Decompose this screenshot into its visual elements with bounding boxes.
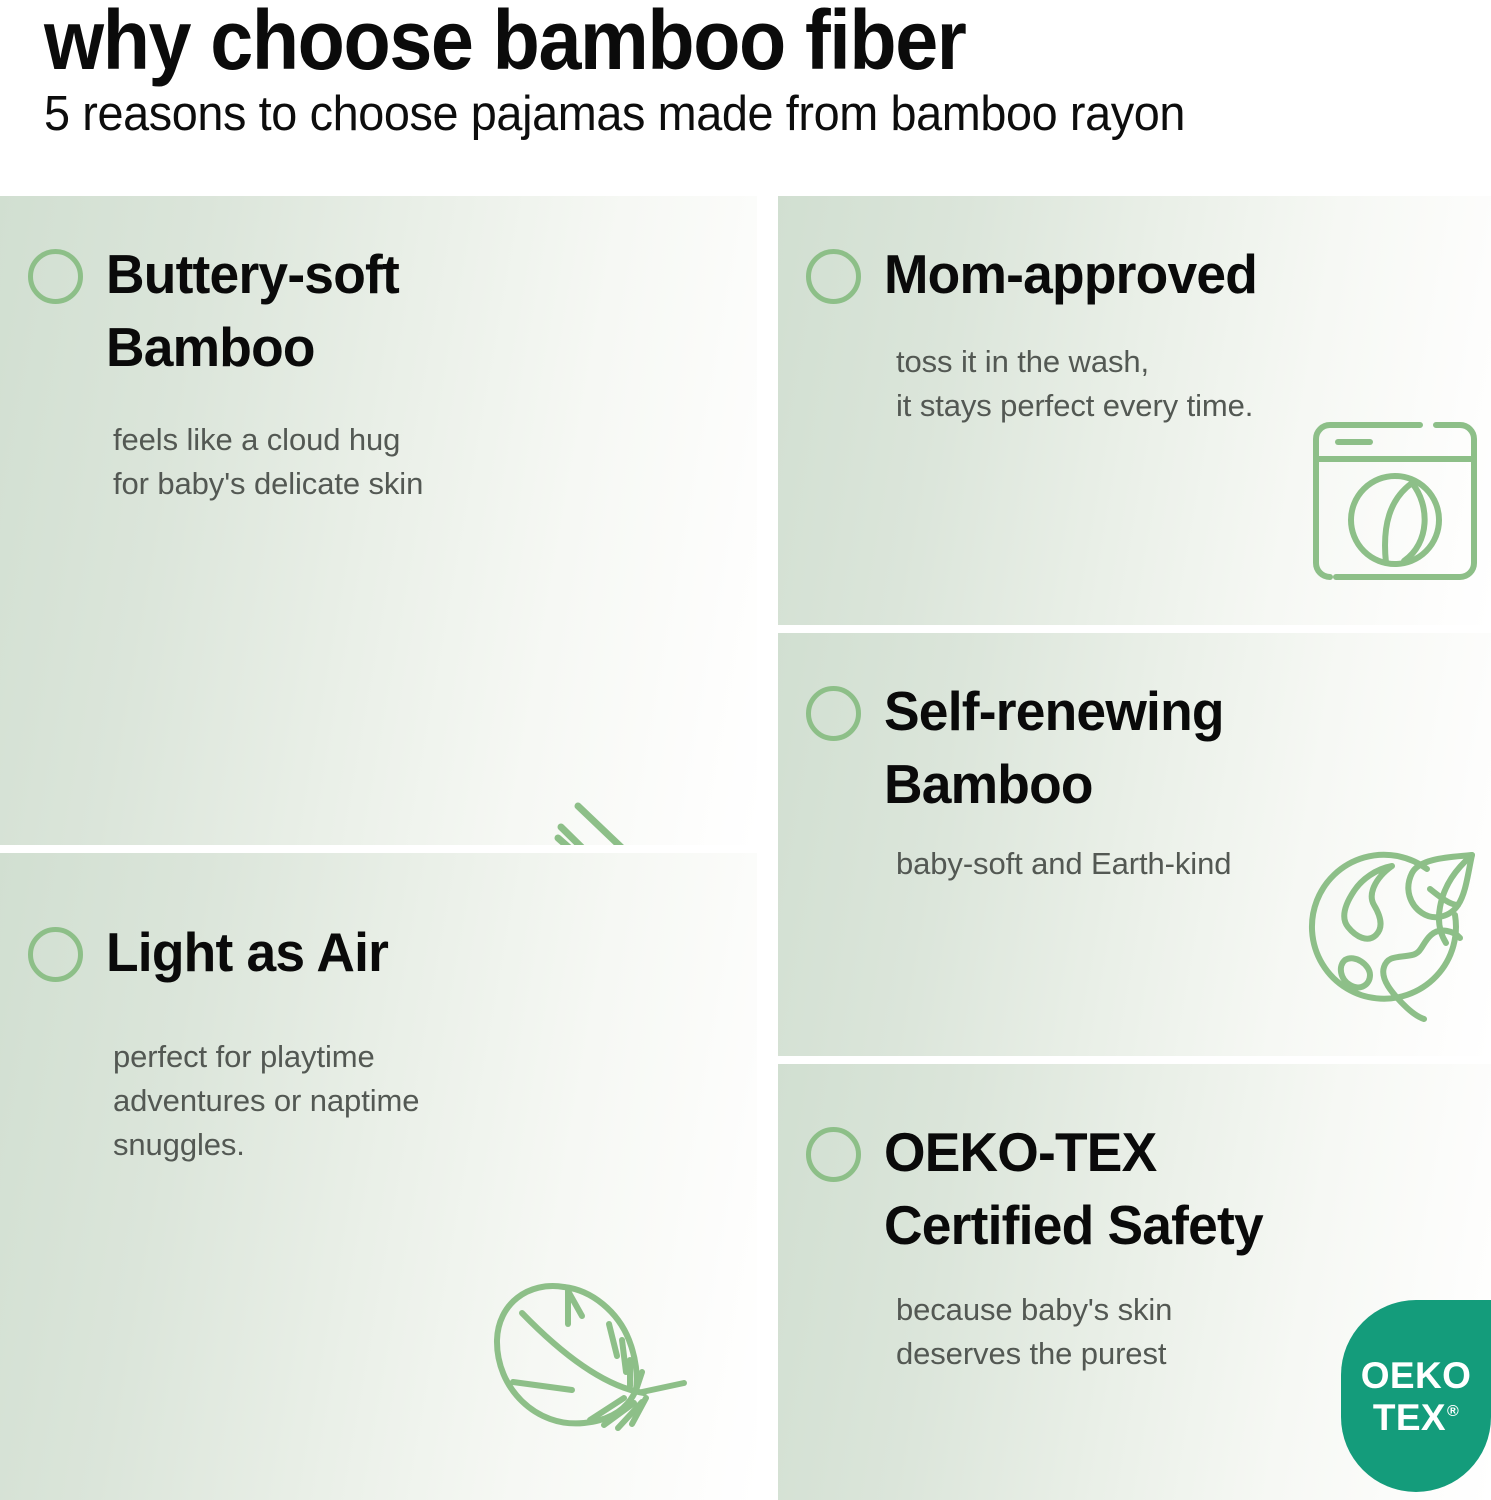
card-mom-approved: Mom-approved toss it in the wash, it sta… [778, 196, 1491, 625]
circle-bullet-icon [28, 249, 83, 304]
infographic-page: why choose bamboo fiber 5 reasons to cho… [0, 0, 1491, 1500]
card-description: feels like a cloud hug for baby's delica… [113, 418, 423, 506]
card-self-renewing-bamboo: Self-renewing Bamboo baby-soft and Earth… [778, 633, 1491, 1056]
card-heading-row: Buttery-soft Bamboo [28, 238, 408, 383]
card-title: Self-renewing Bamboo [884, 675, 1224, 820]
header: why choose bamboo fiber 5 reasons to cho… [0, 0, 1491, 196]
card-light-as-air: Light as Air perfect for playtime advent… [0, 853, 757, 1500]
card-heading-row: Self-renewing Bamboo [806, 675, 1234, 820]
oeko-tex-badge-line1: OEKO [1361, 1357, 1472, 1394]
card-description: baby-soft and Earth-kind [896, 842, 1231, 886]
card-heading-row: Light as Air [28, 916, 397, 989]
card-heading-row: Mom-approved [806, 238, 1269, 311]
hand-touch-icon [494, 796, 714, 845]
oeko-tex-badge-line2: TEX® [1373, 1399, 1459, 1436]
page-subtitle: 5 reasons to choose pajamas made from ba… [44, 88, 1185, 142]
card-title: Mom-approved [884, 238, 1257, 311]
circle-bullet-icon [806, 1127, 861, 1182]
card-title: OEKO-TEX Certified Safety [884, 1116, 1263, 1261]
registered-trademark-icon: ® [1447, 1403, 1459, 1420]
page-title: why choose bamboo fiber [44, 0, 966, 84]
circle-bullet-icon [806, 249, 861, 304]
card-title: Buttery-soft Bamboo [106, 238, 399, 383]
card-title: Light as Air [106, 916, 388, 989]
circle-bullet-icon [806, 686, 861, 741]
circle-bullet-icon [28, 927, 83, 982]
card-buttery-soft-bamboo: Buttery-soft Bamboo feels like a cloud h… [0, 196, 757, 845]
card-description: because baby's skin deserves the purest [896, 1288, 1172, 1376]
card-description: perfect for playtime adventures or napti… [113, 1035, 419, 1167]
oeko-tex-badge-text: TEX [1373, 1397, 1446, 1438]
card-description: toss it in the wash, it stays perfect ev… [896, 340, 1253, 428]
card-heading-row: OEKO-TEX Certified Safety [806, 1116, 1275, 1261]
oeko-tex-badge: OEKO TEX® [1341, 1300, 1491, 1492]
